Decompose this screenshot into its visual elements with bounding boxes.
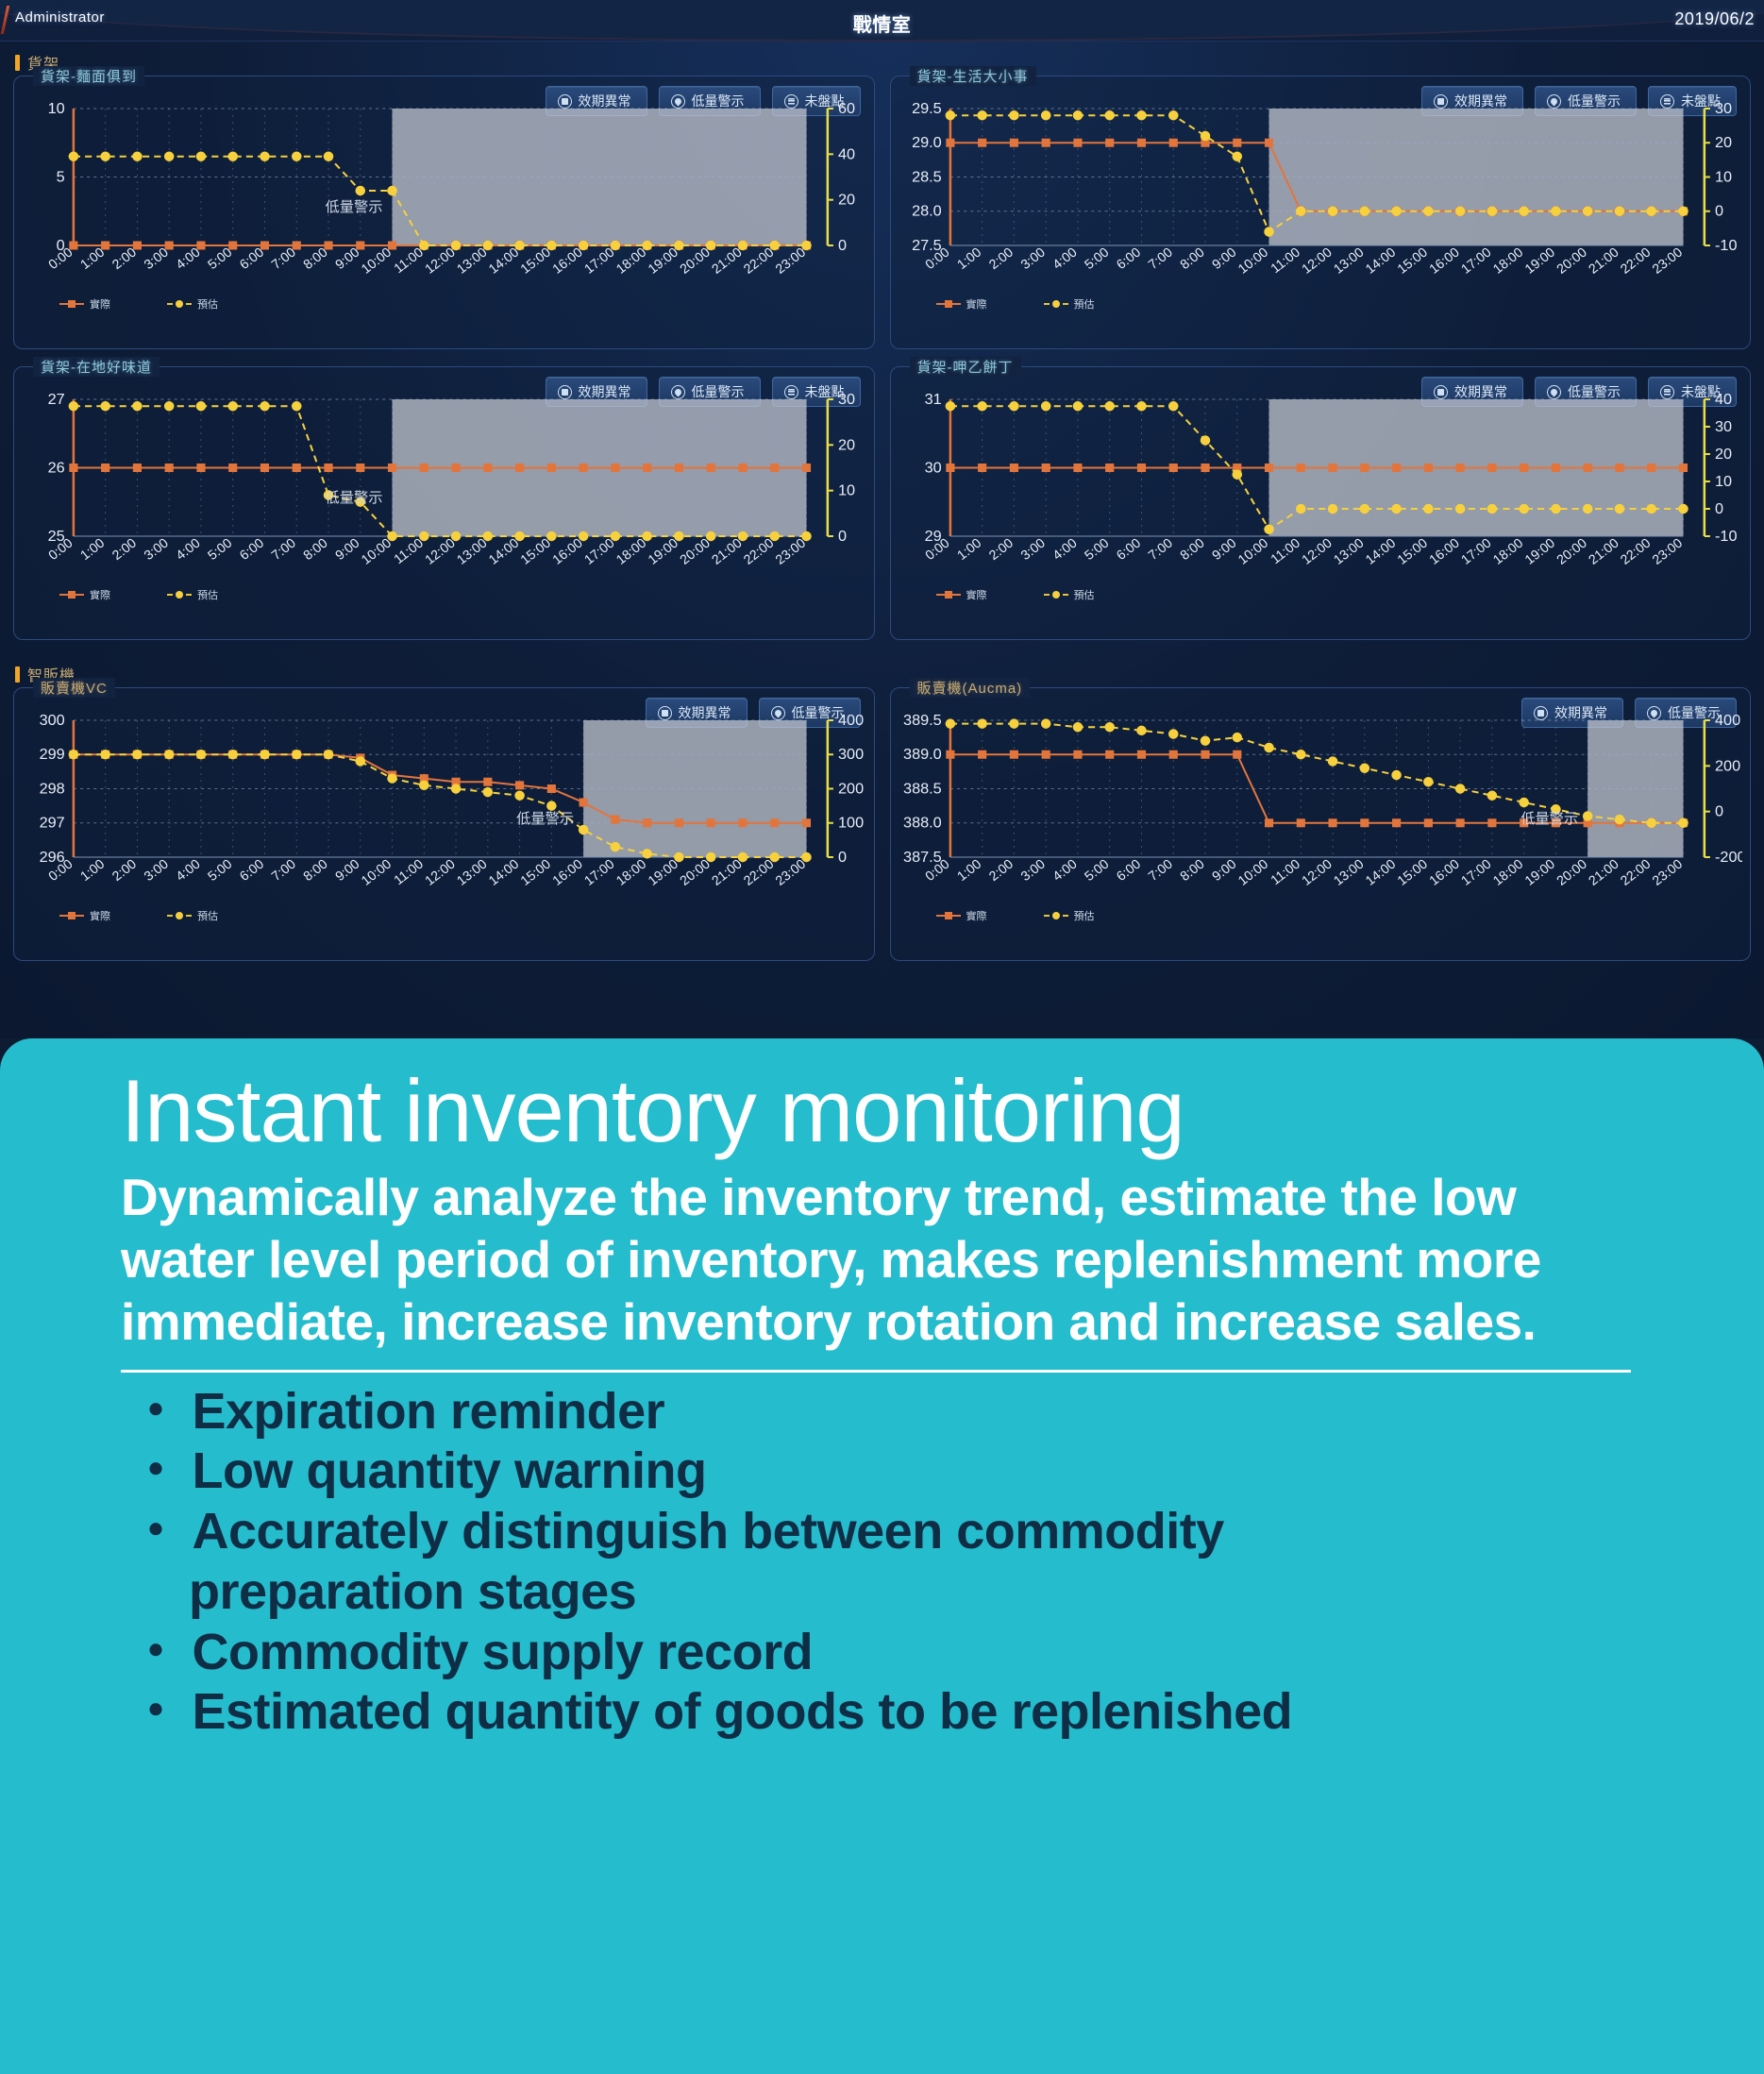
chart-vending-1: 2962972982993000:001:002:003:004:005:006… [22, 709, 866, 902]
svg-text:9:00: 9:00 [332, 535, 362, 563]
svg-text:40: 40 [838, 145, 855, 162]
svg-text:10:00: 10:00 [358, 535, 394, 567]
svg-text:17:00: 17:00 [1457, 535, 1493, 567]
panel-shelf-3: 貨架-在地好味道 效期異常 低量警示 未盤點 2526270:001:002:0… [13, 366, 875, 640]
svg-text:3:00: 3:00 [141, 856, 171, 884]
svg-text:16:00: 16:00 [1426, 244, 1462, 277]
panel-title: 貨架-在地好味道 [33, 357, 160, 377]
svg-text:8:00: 8:00 [300, 856, 330, 884]
svg-text:12:00: 12:00 [1298, 856, 1334, 888]
legend-actual-label: 實際 [966, 296, 987, 312]
svg-text:21:00: 21:00 [1585, 856, 1621, 888]
svg-text:10:00: 10:00 [1235, 535, 1270, 567]
svg-text:13:00: 13:00 [454, 856, 490, 888]
svg-text:2:00: 2:00 [109, 535, 140, 563]
legend-actual-swatch [59, 915, 84, 917]
legend-actual-label: 實際 [966, 587, 987, 602]
svg-text:6:00: 6:00 [1113, 535, 1143, 563]
svg-text:18:00: 18:00 [1489, 244, 1525, 277]
svg-text:15:00: 15:00 [1394, 535, 1430, 567]
svg-text:389.0: 389.0 [903, 746, 942, 763]
promo-bullet-item: ・Commodity supply record [121, 1623, 1707, 1683]
promo-bullet-text: Expiration reminder [193, 1383, 665, 1440]
legend-actual-swatch [936, 303, 961, 305]
svg-text:3:00: 3:00 [141, 535, 171, 563]
bullet-marker: ・ [130, 1624, 181, 1680]
svg-text:2:00: 2:00 [985, 244, 1016, 272]
svg-text:8:00: 8:00 [300, 535, 330, 563]
panel-shelf-1: 貨架-麵面俱到 效期異常 低量警示 未盤點 05100:001:002:003:… [13, 76, 875, 349]
svg-text:0: 0 [1715, 500, 1723, 517]
svg-text:21:00: 21:00 [1585, 244, 1621, 277]
svg-text:400: 400 [1715, 712, 1740, 729]
page-title: 戰情室 [0, 9, 1764, 37]
legend-estimate: 預估 [1044, 908, 1095, 923]
svg-text:15:00: 15:00 [517, 856, 553, 888]
svg-text:20: 20 [1715, 446, 1732, 463]
svg-text:10: 10 [1715, 169, 1732, 186]
section-vending-header: 智販機 [15, 663, 1755, 685]
panel-shelf-2: 貨架-生活大小事 效期異常 低量警示 未盤點 27.528.028.529.02… [890, 76, 1752, 349]
svg-text:22:00: 22:00 [1617, 535, 1653, 567]
legend-estimate: 預估 [1044, 587, 1095, 602]
svg-text:3:00: 3:00 [1017, 856, 1048, 884]
chart-shelf-4: 2930310:001:002:003:004:005:006:007:008:… [899, 388, 1743, 582]
svg-text:19:00: 19:00 [1521, 535, 1557, 567]
svg-text:20:00: 20:00 [1554, 535, 1589, 567]
svg-text:5:00: 5:00 [1081, 856, 1111, 884]
promo-bullet-item: ・Expiration reminder [121, 1382, 1707, 1442]
legend-shelf-1: 實際 預估 [22, 291, 866, 312]
legend-actual-label: 實際 [90, 587, 110, 602]
section-vending: 智販機 販賣機VC 效期異常 低量警示 2962972982993000:001… [0, 653, 1764, 961]
svg-text:10:00: 10:00 [358, 856, 394, 888]
section-accent-bar [15, 55, 20, 71]
svg-text:8:00: 8:00 [1177, 535, 1207, 563]
legend-actual: 實際 [59, 587, 110, 602]
svg-text:27: 27 [48, 391, 65, 408]
legend-actual-swatch [59, 303, 84, 305]
svg-text:-200: -200 [1715, 849, 1742, 866]
svg-text:100: 100 [838, 815, 864, 832]
svg-text:20:00: 20:00 [1554, 244, 1589, 277]
svg-text:299: 299 [40, 746, 65, 763]
svg-text:7:00: 7:00 [268, 535, 298, 563]
svg-text:298: 298 [40, 781, 65, 798]
legend-estimate-label: 預估 [1074, 296, 1095, 312]
svg-text:低量警示: 低量警示 [1520, 811, 1578, 827]
section-shelf: 貨架 貨架-麵面俱到 效期異常 低量警示 未盤點 05100:001:002:0… [0, 42, 1764, 640]
svg-text:10:00: 10:00 [1235, 244, 1270, 277]
svg-text:22:00: 22:00 [1617, 856, 1653, 888]
svg-text:6:00: 6:00 [1113, 856, 1143, 884]
promo-bullet-text: Low quantity warning [193, 1442, 707, 1499]
bullet-marker: ・ [130, 1503, 181, 1560]
top-bar: Administrator 戰情室 2019/06/2 [0, 0, 1764, 42]
panel-title: 販賣機(Aucma) [910, 678, 1031, 698]
bullet-marker: ・ [130, 1683, 181, 1740]
svg-text:11:00: 11:00 [391, 856, 426, 888]
svg-text:12:00: 12:00 [1298, 244, 1334, 277]
svg-text:低量警示: 低量警示 [326, 490, 383, 506]
panel-title: 貨架-麵面俱到 [33, 66, 144, 86]
promo-divider [121, 1370, 1631, 1373]
section-accent-bar [15, 666, 20, 683]
svg-text:200: 200 [838, 781, 864, 798]
svg-text:14:00: 14:00 [485, 856, 521, 888]
svg-text:5:00: 5:00 [1081, 535, 1111, 563]
legend-estimate-swatch [167, 594, 192, 596]
svg-text:14:00: 14:00 [1362, 244, 1398, 277]
svg-text:8:00: 8:00 [1177, 856, 1207, 884]
legend-estimate-swatch [1044, 303, 1068, 305]
svg-text:19:00: 19:00 [1521, 856, 1557, 888]
svg-text:12:00: 12:00 [422, 856, 458, 888]
legend-shelf-4: 實際 預估 [899, 582, 1743, 602]
svg-text:4:00: 4:00 [173, 535, 203, 563]
bullet-marker: ・ [130, 1383, 181, 1440]
svg-text:31: 31 [924, 391, 941, 408]
legend-actual: 實際 [59, 296, 110, 312]
legend-shelf-3: 實際 預估 [22, 582, 866, 602]
svg-text:389.5: 389.5 [903, 712, 942, 729]
svg-text:15:00: 15:00 [1394, 244, 1430, 277]
svg-text:5: 5 [57, 169, 65, 186]
svg-text:13:00: 13:00 [1330, 856, 1366, 888]
svg-text:7:00: 7:00 [1145, 244, 1175, 272]
legend-actual-label: 實際 [966, 908, 987, 923]
legend-actual-swatch [936, 594, 961, 596]
promo-bullet-text: Accurately distinguish between commodity [193, 1503, 1224, 1560]
svg-text:1:00: 1:00 [953, 535, 983, 563]
chart-shelf-1: 05100:001:002:003:004:005:006:007:008:00… [22, 97, 866, 291]
legend-estimate-swatch [1044, 915, 1068, 917]
promo-bullets: ・Expiration reminder・Low quantity warnin… [121, 1382, 1707, 1743]
section-shelf-header: 貨架 [15, 51, 1755, 74]
svg-text:28.5: 28.5 [912, 169, 942, 186]
svg-text:18:00: 18:00 [613, 856, 649, 888]
panel-vending-1: 販賣機VC 效期異常 低量警示 2962972982993000:001:002… [13, 687, 875, 961]
svg-text:29.5: 29.5 [912, 100, 942, 117]
promo-bullet-text-cont: preparation stages [130, 1562, 1707, 1623]
svg-text:23:00: 23:00 [1649, 856, 1685, 888]
legend-actual-label: 實際 [90, 296, 110, 312]
svg-text:19:00: 19:00 [645, 856, 680, 888]
svg-text:-10: -10 [1715, 528, 1738, 545]
panel-title: 販賣機VC [33, 678, 115, 698]
svg-text:0: 0 [838, 849, 847, 866]
panel-title: 貨架-生活大小事 [910, 66, 1036, 86]
svg-text:7:00: 7:00 [1145, 535, 1175, 563]
svg-text:10: 10 [1715, 473, 1732, 490]
promo-bullet-text: Commodity supply record [193, 1624, 814, 1680]
svg-text:29.0: 29.0 [912, 134, 942, 151]
svg-text:20: 20 [838, 436, 855, 453]
svg-text:388.0: 388.0 [903, 815, 942, 832]
svg-text:6:00: 6:00 [1113, 244, 1143, 272]
svg-text:10: 10 [838, 482, 855, 499]
svg-text:22:00: 22:00 [1617, 244, 1653, 277]
svg-text:300: 300 [40, 712, 65, 729]
svg-text:7:00: 7:00 [1145, 856, 1175, 884]
legend-estimate-label: 預估 [1074, 908, 1095, 923]
panel-shelf-4: 貨架-呷乙餅丁 效期異常 低量警示 未盤點 2930310:001:002:00… [890, 366, 1752, 640]
legend-estimate: 預估 [1044, 296, 1095, 312]
legend-estimate-swatch [167, 303, 192, 305]
chart-shelf-2: 27.528.028.529.029.50:001:002:003:004:00… [899, 97, 1743, 291]
svg-text:9:00: 9:00 [1208, 244, 1238, 272]
svg-text:3:00: 3:00 [1017, 244, 1048, 272]
svg-text:4:00: 4:00 [173, 856, 203, 884]
svg-text:18:00: 18:00 [1489, 535, 1525, 567]
legend-estimate-label: 預估 [197, 587, 218, 602]
legend-actual: 實際 [59, 908, 110, 923]
promo-bullet-item: ・Low quantity warning [121, 1442, 1707, 1502]
svg-text:16:00: 16:00 [1426, 535, 1462, 567]
legend-vending-1: 實際 預估 [22, 902, 866, 923]
legend-estimate: 預估 [167, 908, 218, 923]
chart-vending-2: 387.5388.0388.5389.0389.50:001:002:003:0… [899, 709, 1743, 902]
svg-text:26: 26 [48, 460, 65, 477]
svg-text:2:00: 2:00 [109, 856, 140, 884]
legend-estimate-swatch [1044, 594, 1068, 596]
svg-text:300: 300 [838, 746, 864, 763]
promo-bullet-item: ・Accurately distinguish between commodit… [121, 1502, 1707, 1622]
svg-text:21:00: 21:00 [1585, 535, 1621, 567]
svg-text:14:00: 14:00 [1362, 535, 1398, 567]
date-label: 2019/06/2 [1674, 9, 1755, 29]
svg-text:17:00: 17:00 [1457, 856, 1493, 888]
svg-text:2:00: 2:00 [985, 856, 1016, 884]
legend-estimate-label: 預估 [197, 908, 218, 923]
svg-text:11:00: 11:00 [1268, 535, 1302, 567]
svg-text:30: 30 [1715, 100, 1732, 117]
svg-text:8:00: 8:00 [1177, 244, 1207, 272]
svg-text:40: 40 [1715, 391, 1732, 408]
svg-text:297: 297 [40, 815, 65, 832]
svg-text:5:00: 5:00 [1081, 244, 1111, 272]
panel-title: 貨架-呷乙餅丁 [910, 357, 1021, 377]
chart-shelf-3: 2526270:001:002:003:004:005:006:007:008:… [22, 388, 866, 582]
svg-text:12:00: 12:00 [1298, 535, 1334, 567]
promo-headline: Instant inventory monitoring [121, 1065, 1707, 1158]
svg-text:1:00: 1:00 [77, 856, 108, 884]
legend-vending-2: 實際 預估 [899, 902, 1743, 923]
svg-text:9:00: 9:00 [1208, 535, 1238, 563]
svg-text:23:00: 23:00 [1649, 244, 1685, 277]
svg-text:19:00: 19:00 [1521, 244, 1557, 277]
promo-panel: Instant inventory monitoring Dynamically… [0, 1038, 1764, 2074]
svg-text:5:00: 5:00 [205, 535, 235, 563]
svg-text:4:00: 4:00 [1050, 856, 1080, 884]
svg-text:10: 10 [48, 100, 65, 117]
svg-text:17:00: 17:00 [581, 856, 617, 888]
svg-text:0: 0 [1715, 803, 1723, 820]
svg-text:-10: -10 [1715, 237, 1738, 254]
legend-actual-swatch [936, 915, 961, 917]
svg-text:10:00: 10:00 [1235, 856, 1270, 888]
legend-actual: 實際 [936, 908, 987, 923]
shelf-row-1: 貨架-麵面俱到 效期異常 低量警示 未盤點 05100:001:002:003:… [9, 76, 1755, 349]
svg-text:0: 0 [1715, 203, 1723, 220]
legend-estimate: 預估 [167, 296, 218, 312]
svg-text:0: 0 [838, 237, 847, 254]
screenshot-root: Administrator 戰情室 2019/06/2 貨架 貨架-麵面俱到 效… [0, 0, 1764, 2074]
svg-text:23:00: 23:00 [1649, 535, 1685, 567]
svg-text:3:00: 3:00 [1017, 535, 1048, 563]
svg-text:200: 200 [1715, 757, 1740, 774]
svg-text:30: 30 [1715, 418, 1732, 435]
svg-text:7:00: 7:00 [268, 856, 298, 884]
svg-text:400: 400 [838, 712, 864, 729]
svg-text:30: 30 [924, 460, 941, 477]
bullet-marker: ・ [130, 1442, 181, 1499]
svg-text:9:00: 9:00 [332, 856, 362, 884]
legend-estimate-label: 預估 [1074, 587, 1095, 602]
svg-text:2:00: 2:00 [985, 535, 1016, 563]
dashboard: Administrator 戰情室 2019/06/2 貨架 貨架-麵面俱到 效… [0, 0, 1764, 1038]
svg-text:11:00: 11:00 [1268, 856, 1302, 888]
legend-actual: 實際 [936, 587, 987, 602]
svg-text:13:00: 13:00 [1330, 244, 1366, 277]
legend-shelf-2: 實際 預估 [899, 291, 1743, 312]
svg-text:388.5: 388.5 [903, 781, 942, 798]
svg-text:28.0: 28.0 [912, 203, 942, 220]
svg-text:低量警示: 低量警示 [516, 811, 574, 827]
svg-text:5:00: 5:00 [205, 856, 235, 884]
svg-text:6:00: 6:00 [237, 535, 267, 563]
vending-row: 販賣機VC 效期異常 低量警示 2962972982993000:001:002… [9, 687, 1755, 961]
svg-text:0: 0 [838, 528, 847, 545]
promo-lede: Dynamically analyze the inventory trend,… [121, 1166, 1640, 1353]
svg-text:9:00: 9:00 [1208, 856, 1238, 884]
svg-text:6:00: 6:00 [237, 856, 267, 884]
svg-text:20: 20 [1715, 134, 1732, 151]
svg-text:1:00: 1:00 [77, 535, 108, 563]
svg-text:17:00: 17:00 [1457, 244, 1493, 277]
svg-text:11:00: 11:00 [1268, 244, 1302, 277]
svg-text:4:00: 4:00 [1050, 535, 1080, 563]
legend-actual: 實際 [936, 296, 987, 312]
shelf-row-2: 貨架-在地好味道 效期異常 低量警示 未盤點 2526270:001:002:0… [9, 366, 1755, 640]
svg-text:18:00: 18:00 [1489, 856, 1525, 888]
svg-text:20:00: 20:00 [1554, 856, 1589, 888]
promo-bullet-item: ・Estimated quantity of goods to be reple… [121, 1682, 1707, 1743]
svg-text:20: 20 [838, 192, 855, 209]
legend-estimate: 預估 [167, 587, 218, 602]
svg-text:16:00: 16:00 [549, 856, 585, 888]
svg-text:60: 60 [838, 100, 855, 117]
svg-text:低量警示: 低量警示 [326, 199, 383, 215]
panel-vending-2: 販賣機(Aucma) 效期異常 低量警示 387.5388.0388.5389.… [890, 687, 1752, 961]
promo-bullet-text: Estimated quantity of goods to be replen… [193, 1683, 1293, 1740]
svg-text:14:00: 14:00 [1362, 856, 1398, 888]
legend-estimate-swatch [167, 915, 192, 917]
svg-text:30: 30 [838, 391, 855, 408]
legend-actual-swatch [59, 594, 84, 596]
svg-text:4:00: 4:00 [1050, 244, 1080, 272]
svg-text:1:00: 1:00 [953, 244, 983, 272]
legend-actual-label: 實際 [90, 908, 110, 923]
svg-text:1:00: 1:00 [953, 856, 983, 884]
legend-estimate-label: 預估 [197, 296, 218, 312]
svg-text:16:00: 16:00 [1426, 856, 1462, 888]
svg-text:15:00: 15:00 [1394, 856, 1430, 888]
svg-text:13:00: 13:00 [1330, 535, 1366, 567]
